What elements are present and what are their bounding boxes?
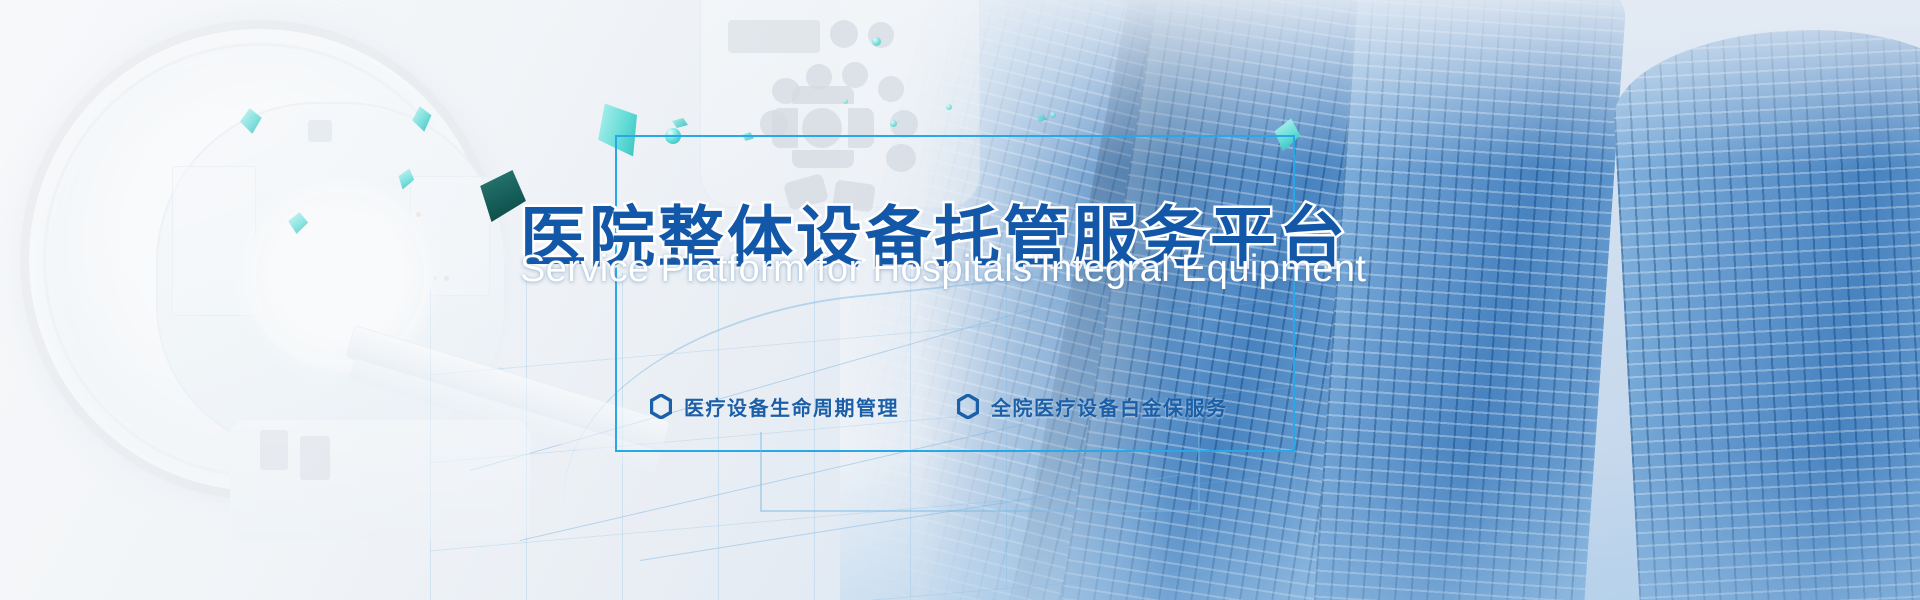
feature-item-lifecycle[interactable]: 医疗设备生命周期管理 <box>650 392 899 421</box>
hexagon-icon <box>650 394 672 419</box>
hero-banner: SOMATOM Definition AS <box>0 0 1920 600</box>
page-subtitle: Service Platform for Hospitals'Integral … <box>520 248 1366 291</box>
feature-label: 医疗设备生命周期管理 <box>684 392 899 421</box>
banner-content: 医院整体设备托管服务平台 Service Platform for Hospit… <box>0 0 1920 600</box>
hexagon-icon <box>957 394 979 419</box>
feature-item-platinum[interactable]: 全院医疗设备白金保服务 <box>957 392 1228 421</box>
feature-list: 医疗设备生命周期管理 全院医疗设备白金保服务 <box>650 392 1228 421</box>
feature-label: 全院医疗设备白金保服务 <box>991 392 1228 421</box>
